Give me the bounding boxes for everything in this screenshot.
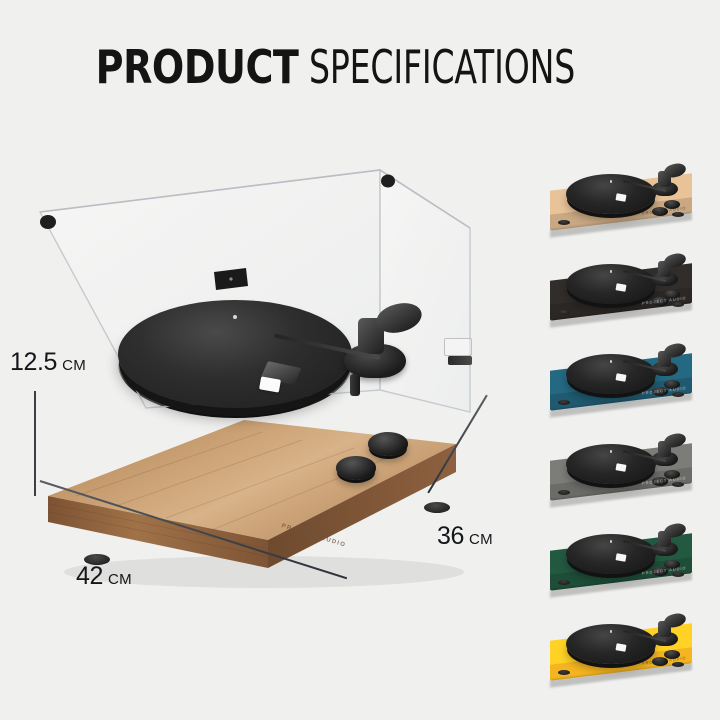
- variant-oak[interactable]: PROJECT AUDIO: [536, 160, 716, 238]
- variant-cartridge: [615, 553, 626, 562]
- variant-yellow[interactable]: PROJECT AUDIO: [536, 610, 716, 688]
- dimension-depth-unit: CM: [469, 531, 493, 548]
- specification-sheet: PRODUCTSPECIFICATIONS: [0, 0, 720, 720]
- dimension-height-value: 12.5: [10, 348, 57, 376]
- accessory-block: [448, 356, 472, 365]
- dimension-width-unit: CM: [108, 571, 132, 588]
- variant-platter: [566, 354, 656, 394]
- variant-foot-right: [672, 392, 684, 397]
- variant-foot-right: [672, 212, 684, 217]
- dimension-line-height: [34, 391, 36, 496]
- accessory-clip: [444, 338, 472, 356]
- color-variant-list: PROJECT AUDIO PROJECT AUDIO: [536, 160, 716, 700]
- variant-foot-left: [558, 400, 570, 405]
- plinth-foot-right: [424, 502, 450, 513]
- page-title-bold: PRODUCT: [96, 40, 299, 94]
- dimension-width-value: 42: [76, 562, 103, 590]
- page-title-light: SPECIFICATIONS: [309, 40, 575, 94]
- product-image-main: PROJECT AUDIO: [28, 150, 498, 610]
- variant-foot-right: [672, 662, 684, 667]
- variant-foot-left: [558, 310, 570, 315]
- variant-foot-right: [672, 572, 684, 577]
- variant-green[interactable]: PROJECT AUDIO: [536, 520, 716, 598]
- platter: [118, 300, 352, 408]
- variant-foot-left: [558, 580, 570, 585]
- variant-cartridge: [615, 193, 626, 202]
- variant-foot-left: [558, 220, 570, 225]
- page-title: PRODUCTSPECIFICATIONS: [0, 40, 720, 94]
- variant-foot-right: [672, 302, 684, 307]
- variant-foot-right: [672, 482, 684, 487]
- dimension-height-unit: CM: [62, 357, 86, 374]
- power-knob: [336, 456, 376, 480]
- dimension-depth-value: 36: [437, 522, 464, 550]
- variant-teal[interactable]: PROJECT AUDIO: [536, 340, 716, 418]
- variant-platter: [566, 264, 656, 304]
- tonearm-rest: [350, 374, 360, 396]
- variant-gray[interactable]: PROJECT AUDIO: [536, 430, 716, 508]
- variant-black[interactable]: PROJECT AUDIO: [536, 250, 716, 328]
- variant-cartridge: [615, 643, 626, 652]
- dimension-label-height: 12.5CM: [10, 348, 86, 377]
- dimension-label-width: 42CM: [76, 562, 132, 591]
- speed-knob: [368, 432, 408, 456]
- variant-platter: [566, 534, 656, 574]
- variant-cartridge: [615, 463, 626, 472]
- variant-cartridge: [615, 373, 626, 382]
- variant-cartridge: [615, 283, 626, 292]
- variant-foot-left: [558, 490, 570, 495]
- variant-foot-left: [558, 670, 570, 675]
- variant-platter: [566, 624, 656, 664]
- variant-platter: [566, 174, 656, 214]
- dimension-label-depth: 36CM: [437, 522, 493, 551]
- variant-platter: [566, 444, 656, 484]
